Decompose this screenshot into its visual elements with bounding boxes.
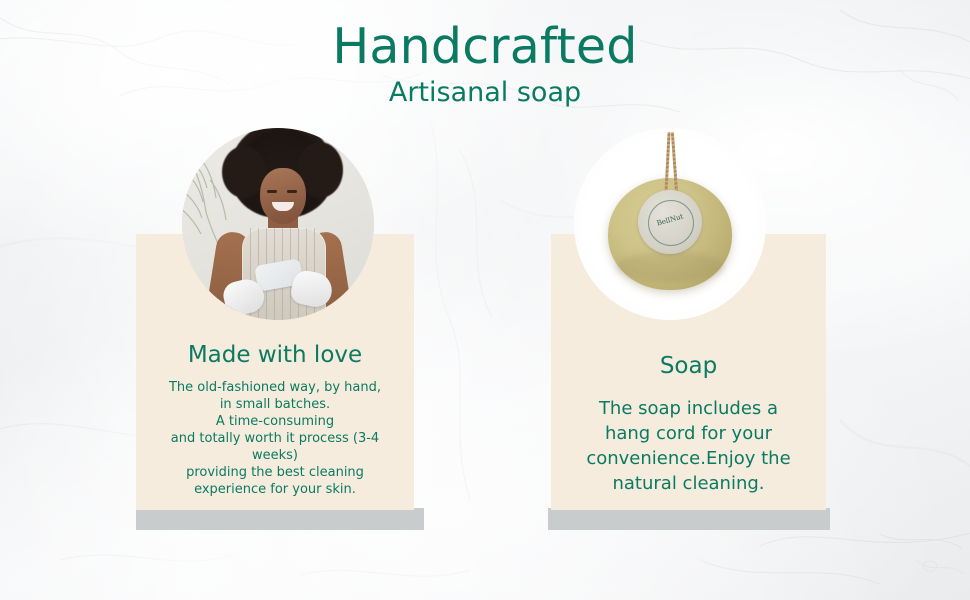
page-title: Handcrafted: [0, 18, 970, 76]
card-right-shadow-bar: [548, 508, 830, 530]
card-left-shadow-bar: [136, 508, 424, 530]
hanging-round-soap-photo: BellNut: [574, 128, 766, 320]
title-block: Handcrafted Artisanal soap: [0, 18, 970, 110]
card-right-text: Soap The soap includes a hang cord for y…: [551, 352, 826, 496]
card-left-heading: Made with love: [136, 341, 414, 369]
face: [260, 168, 306, 224]
card-right-body: The soap includes a hang cord for your c…: [551, 396, 826, 496]
woman-making-soap-photo: [182, 128, 374, 320]
card-left-text: Made with love The old-fashioned way, by…: [136, 341, 414, 498]
card-right-heading: Soap: [551, 352, 826, 380]
card-left-body: The old-fashioned way, by hand, in small…: [136, 379, 414, 498]
page-subtitle: Artisanal soap: [0, 76, 970, 110]
soap-paper-label: BellNut: [638, 190, 702, 254]
promo-banner: Handcrafted Artisanal soap: [0, 0, 970, 600]
